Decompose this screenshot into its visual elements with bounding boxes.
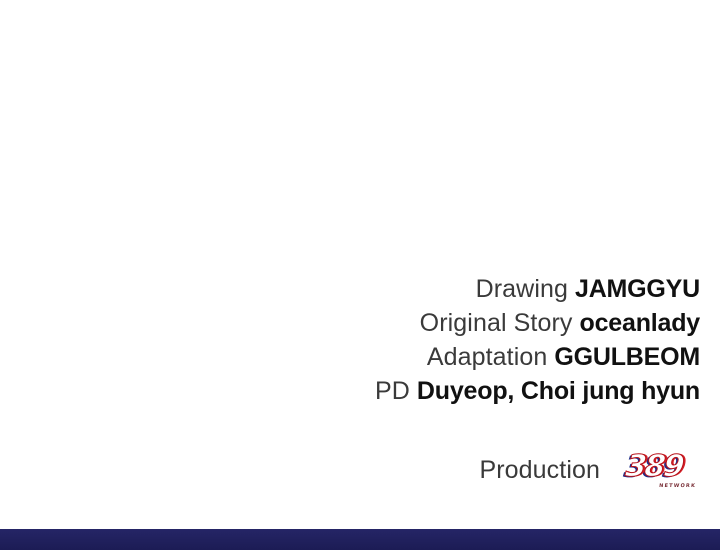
credit-line-pd: PDDuyeop, Choi jung hyun [40,374,700,408]
credit-role-label: PD [375,377,410,405]
credit-role-label: Drawing [476,275,568,303]
credit-role-label: Adaptation [427,343,548,371]
credit-line-drawing: DrawingJAMGGYU [40,272,700,306]
credit-name-value: oceanlady [580,309,700,337]
logo-subtext: NETWORK [614,483,699,489]
credit-line-original-story: Original Storyoceanlady [40,306,700,340]
bottom-navy-bar [0,529,720,550]
blank-artwork-area [0,0,720,268]
credit-role-label: Original Story [420,309,573,337]
credits-page: DrawingJAMGGYU Original Storyoceanlady A… [0,0,720,550]
credit-name-value: GGULBEOM [554,343,700,371]
logo-layer-highlight: 389 [610,452,697,482]
production-row: Production 389 389 389 NETWORK [479,450,698,490]
credits-list: DrawingJAMGGYU Original Storyoceanlady A… [40,272,700,408]
studio-389-logo-icon: 389 389 389 NETWORK [614,450,698,490]
credit-name-value: JAMGGYU [575,275,700,303]
credit-name-value: Duyeop, Choi jung hyun [417,377,700,405]
production-label: Production [479,456,600,485]
logo-digit-stack: 389 389 389 [614,452,698,482]
credit-line-adaptation: AdaptationGGULBEOM [40,340,700,374]
